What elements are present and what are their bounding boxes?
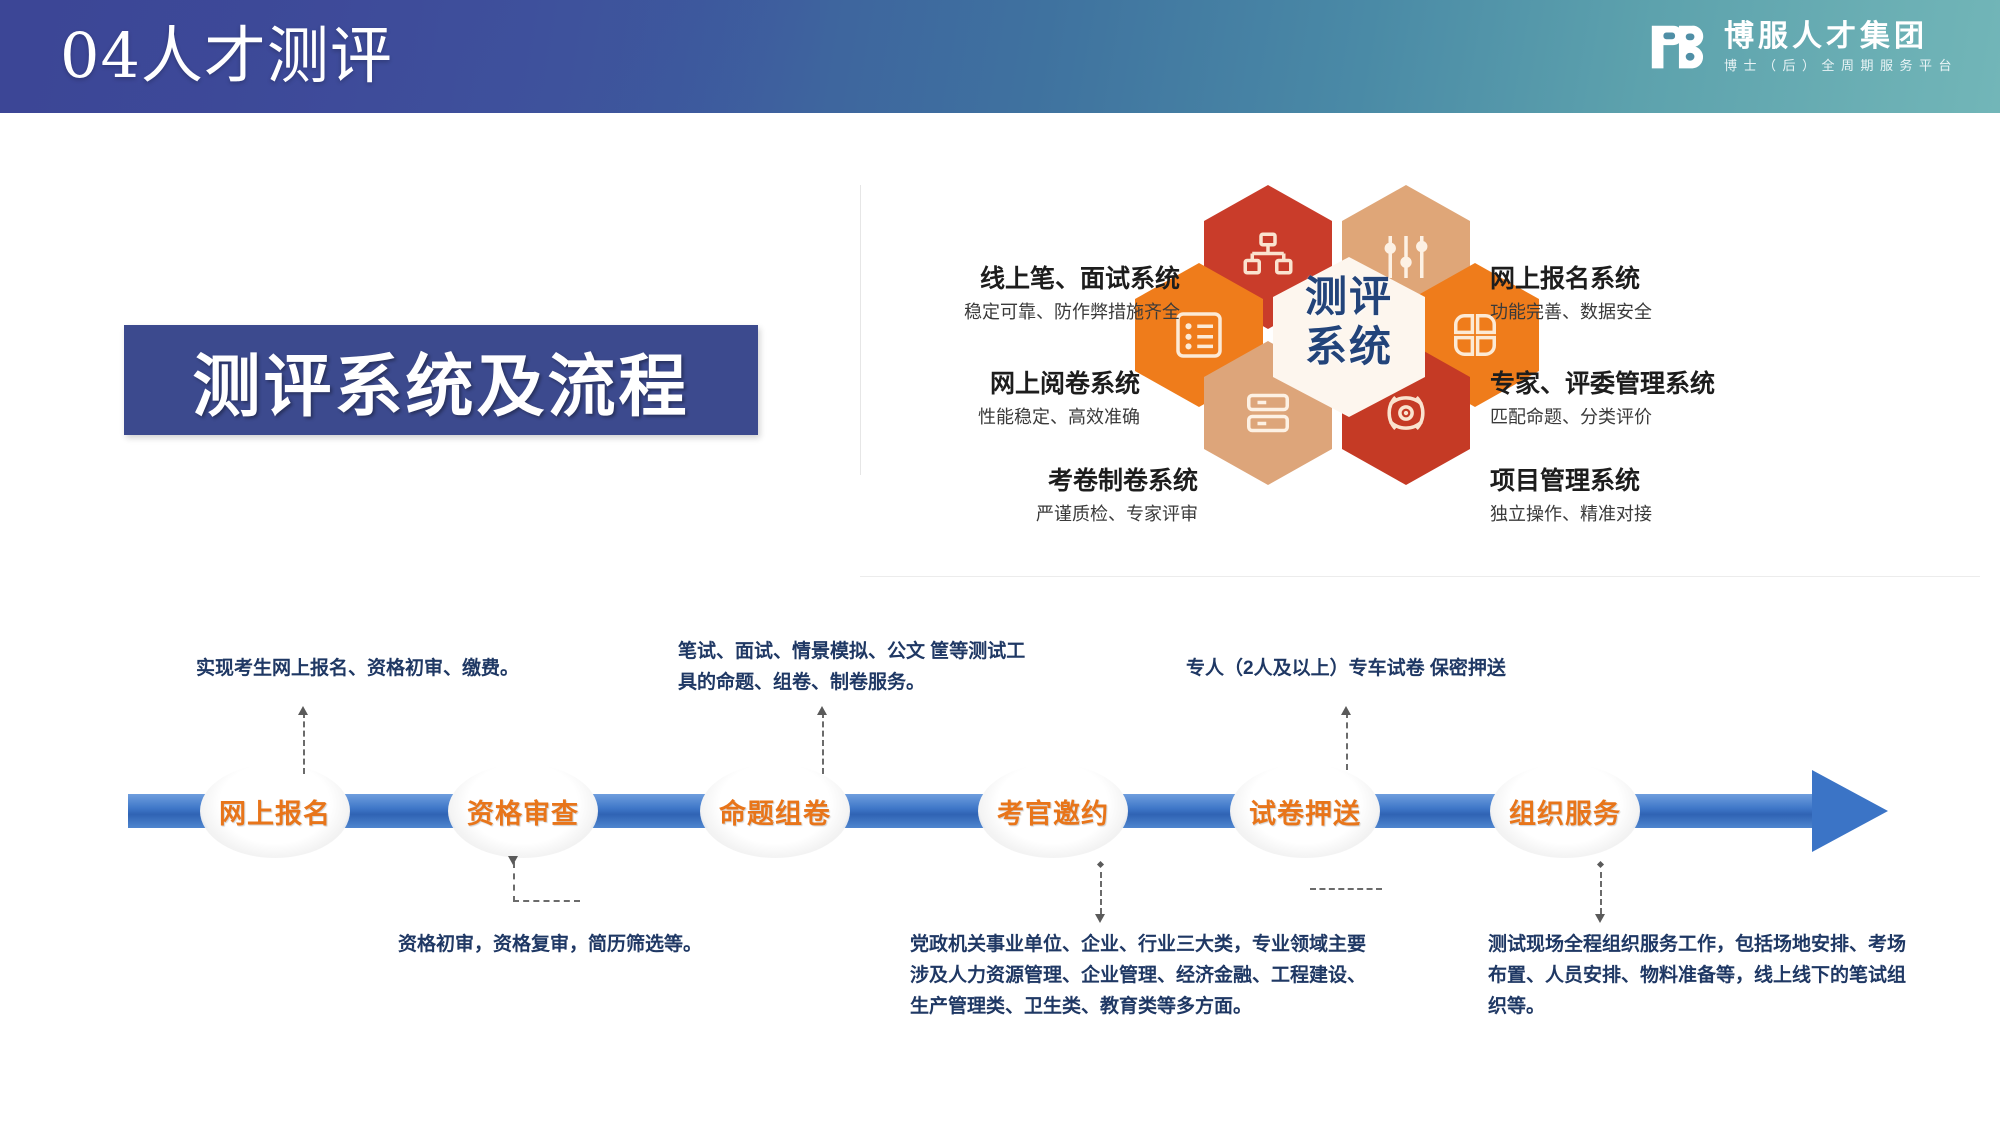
fb-monogram-icon [1646,16,1708,78]
divider-horizontal [860,576,1980,577]
timeline-note-below-qualification-review: 资格初审，资格复审，简历筛选等。 [398,929,728,960]
timeline-node-label: 命题组卷 [719,792,831,831]
timeline-node-label: 组织服务 [1509,792,1621,831]
hex-label-subtitle: 稳定可靠、防作弊措施齐全 [700,299,1180,325]
timeline-note-below-examiner-invitation: 党政机关事业单位、企业、行业三大类，专业领域主要涉及人力资源管理、企业管理、经济… [910,929,1380,1022]
hex-label-title: 项目管理系统 [1490,465,1652,497]
hex-label-title: 网上报名系统 [1490,263,1652,295]
hex-label-subtitle: 功能完善、数据安全 [1490,299,1652,325]
hex-label-subtitle: 严谨质检、专家评审 [700,501,1198,527]
hex-label-title: 网上阅卷系统 [700,368,1140,400]
divider-vertical [860,185,861,475]
timeline-arrow-head [1812,770,1888,852]
timeline-node-label: 考官邀约 [997,792,1109,831]
timeline-node-organization-service[interactable]: 组织服务 [1490,764,1640,858]
timeline-note-above-online-registration: 实现考生网上报名、资格初审、缴费。 [196,653,616,684]
timeline-node-paper-setting[interactable]: 命题组卷 [700,764,850,858]
hex-center-line2: 系统 [1305,322,1393,372]
timeline-node-label: 网上报名 [219,792,331,831]
hex-label-subtitle: 独立操作、精准对接 [1490,501,1652,527]
hex-label-expert-judge-management: 专家、评委管理系统 匹配命题、分类评价 [1490,368,1715,430]
header-banner: 04人才测评 博服人才集团 博士（后）全周期服务平台 [0,0,2000,113]
section-heading-box: 测评系统及流程 [124,325,758,435]
timeline-node-label: 试卷押送 [1249,792,1361,831]
hex-label-title: 考卷制卷系统 [700,465,1198,497]
hex-label-online-registration: 网上报名系统 功能完善、数据安全 [1490,263,1652,325]
hex-label-subtitle: 性能稳定、高效准确 [700,404,1140,430]
timeline-note-above-paper-setting: 笔试、面试、情景模拟、公文 筐等测试工具的命题、组卷、制卷服务。 [678,636,1034,698]
hex-center-line1: 测评 [1305,272,1393,322]
hex-center-label: 测评 系统 [1274,257,1424,387]
hex-label-paper-production: 考卷制卷系统 严谨质检、专家评审 [700,465,1198,527]
hex-label-online-exam-interview: 线上笔、面试系统 稳定可靠、防作弊措施齐全 [700,263,1180,325]
timeline-node-paper-escort[interactable]: 试卷押送 [1230,764,1380,858]
hex-label-title: 专家、评委管理系统 [1490,368,1715,400]
brand-logo: 博服人才集团 博士（后）全周期服务平台 [1646,16,1958,78]
timeline-node-online-registration[interactable]: 网上报名 [200,764,350,858]
hex-label-title: 线上笔、面试系统 [700,263,1180,295]
brand-subtitle: 博士（后）全周期服务平台 [1724,58,1958,74]
hex-label-project-management: 项目管理系统 独立操作、精准对接 [1490,465,1652,527]
timeline-note-above-paper-escort: 专人（2人及以上）专车试卷 保密押送 [1186,653,1626,684]
timeline-note-below-organization-service: 测试现场全程组织服务工作，包括场地安排、考场布置、人员安排、物料准备等，线上线下… [1488,929,1918,1022]
hex-label-subtitle: 匹配命题、分类评价 [1490,404,1715,430]
timeline-node-examiner-invitation[interactable]: 考官邀约 [978,764,1128,858]
assessment-system-hex-diagram: 测评 系统 [1190,185,1500,485]
server-stack-icon [1240,385,1296,441]
timeline-node-label: 资格审查 [467,792,579,831]
page-title: 04人才测评 [60,8,393,103]
brand-name: 博服人才集团 [1724,20,1958,54]
hex-label-online-marking: 网上阅卷系统 性能稳定、高效准确 [700,368,1140,430]
timeline-node-qualification-review[interactable]: 资格审查 [448,764,598,858]
section-heading-text: 测评系统及流程 [192,331,689,430]
